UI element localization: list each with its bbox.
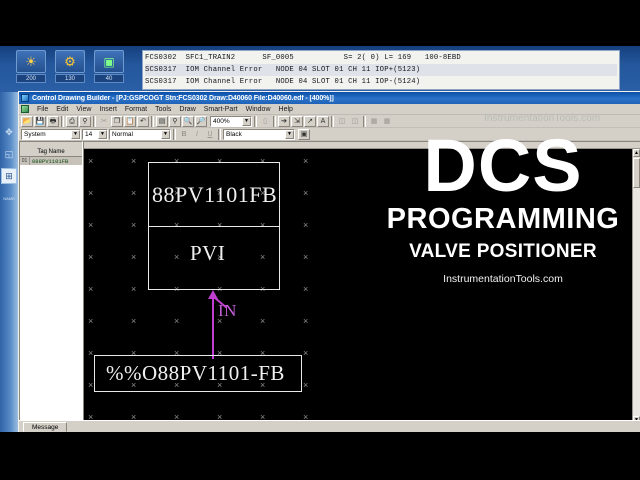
font-name-value: System (24, 131, 46, 138)
name-icon[interactable]: NAME (1, 190, 17, 206)
grid-marker: × (303, 349, 308, 358)
function-block-tag: 88PV1101FB (152, 182, 277, 208)
grid-marker: × (303, 221, 308, 230)
grid-icon[interactable]: ▤ (156, 116, 168, 127)
menu-item-view[interactable]: View (72, 106, 95, 113)
toolbar-separator (273, 116, 276, 127)
square-icon: ▣ (94, 50, 124, 73)
sun-icon: ☀ (16, 50, 46, 73)
alarm-message-row[interactable]: SCS0317 IOM Channel Error NODE 04 SLOT 0… (145, 76, 617, 88)
order-icon[interactable]: ▦ (368, 116, 380, 127)
chevron-down-icon[interactable]: ▼ (71, 130, 80, 139)
scroll-up-icon[interactable]: ▲ (633, 149, 640, 157)
italic-icon[interactable]: I (191, 129, 203, 140)
alarm-button-system[interactable]: ⚙ 130 (53, 50, 87, 83)
text-icon[interactable]: A (317, 116, 329, 127)
print-preview-icon[interactable]: 🖶 (47, 116, 59, 127)
style-value: Normal (112, 131, 133, 138)
bold-icon[interactable]: B (178, 129, 190, 140)
fill-color-icon[interactable]: ▣ (298, 129, 310, 140)
toolbar-separator (363, 116, 366, 127)
select-icon[interactable]: ➔ (278, 116, 290, 127)
input-pin-label: IN (218, 301, 237, 321)
toolbar-separator (218, 129, 221, 140)
grid-marker: × (88, 189, 93, 198)
grid-marker: × (88, 381, 93, 390)
tag-row-value: 088PV1101FB (30, 158, 68, 165)
save-icon[interactable]: 💾 (34, 116, 46, 127)
desktop-launcher-strip: ✥ ◱ ⊞ NAME (0, 92, 18, 432)
grid-marker: × (303, 381, 308, 390)
grid-marker: × (131, 189, 136, 198)
undo-icon[interactable]: ↶ (137, 116, 149, 127)
document-icon (21, 105, 29, 113)
bug-icon: ⚙ (55, 50, 85, 73)
alarm-button-process[interactable]: ☀ 200 (14, 50, 48, 83)
paste-icon[interactable]: 📋 (124, 116, 136, 127)
watermark-text: InstrumentationTools.com (484, 113, 600, 124)
letterbox-bottom (0, 432, 640, 480)
font-name-combobox[interactable]: System ▼ (21, 129, 81, 140)
grid-marker: × (303, 157, 308, 166)
font-size-value: 14 (85, 131, 92, 138)
message-tab-bar: Message (19, 420, 640, 432)
window-titlebar[interactable]: Control Drawing Builder - [PJ:GSPCOGT St… (19, 92, 640, 104)
zoom-combobox[interactable]: 400% ▼ (210, 116, 252, 127)
grid-marker: × (174, 317, 179, 326)
grid-marker: × (88, 349, 93, 358)
toolbar-separator (61, 116, 64, 127)
layer-icon[interactable]: ▦ (381, 116, 393, 127)
menu-item-help[interactable]: Help (275, 106, 297, 113)
alarm-message-row[interactable]: FCS0302 SFC1_TRAIN2 SF_0005 S= 2( 0) L= … (145, 52, 617, 64)
tab-message[interactable]: Message (23, 422, 67, 432)
cut-icon[interactable]: ✂ (98, 116, 110, 127)
open-icon[interactable]: 📂 (21, 116, 33, 127)
terminal-label: %%O88PV1101-FB (106, 361, 285, 386)
grid-marker: × (303, 285, 308, 294)
grid-marker: × (303, 189, 308, 198)
print-icon[interactable]: ⎙ (66, 116, 78, 127)
alarm-count-process: 200 (16, 74, 46, 83)
menu-item-window[interactable]: Window (242, 106, 275, 113)
sun-icon-glyph: ☀ (25, 55, 37, 68)
zoom-in-icon[interactable]: 🔍 (182, 116, 194, 127)
menu-item-draw[interactable]: Draw (175, 106, 199, 113)
grid-marker: × (88, 253, 93, 262)
alarm-message-row[interactable]: SCS0317 IOM Channel Error NODE 04 SLOT 0… (145, 64, 617, 76)
grid-marker: × (303, 317, 308, 326)
style-combobox[interactable]: Normal ▼ (109, 129, 171, 140)
grid-marker: × (260, 317, 265, 326)
menu-item-format[interactable]: Format (121, 106, 151, 113)
chevron-down-icon[interactable]: ▼ (161, 130, 170, 139)
horizontal-ruler (84, 142, 640, 149)
toolbar-separator (331, 116, 334, 127)
screenshot-root: ☀ 200 ⚙ 130 ▣ 40 💬 (0, 0, 640, 480)
his-alarm-toolbar: ☀ 200 ⚙ 130 ▣ 40 💬 (0, 46, 640, 92)
grid-marker: × (131, 317, 136, 326)
connect-icon[interactable]: ⇲ (291, 116, 303, 127)
color-combobox[interactable]: Black ▼ (223, 129, 295, 140)
menu-item-tools[interactable]: Tools (151, 106, 175, 113)
alarm-count-system: 130 (55, 74, 85, 83)
alarm-button-message[interactable]: ▣ 40 (92, 50, 126, 83)
group-icon[interactable]: ◫ (349, 116, 361, 127)
grid-marker: × (303, 253, 308, 262)
alarm-message-list[interactable]: FCS0302 SFC1_TRAIN2 SF_0005 S= 2( 0) L= … (142, 50, 620, 90)
page-icon[interactable]: ▯ (259, 116, 271, 127)
grid-marker: × (88, 285, 93, 294)
window-client-area: Tag Name 01 088PV1101FB ××××××××××××××××… (19, 141, 640, 432)
vertical-scroll-thumb[interactable] (633, 158, 640, 188)
format-toolbar: System ▼ 14 ▼ Normal ▼ B I U Black ▼ ▣ (19, 128, 640, 141)
navigate-icon[interactable]: ✥ (1, 124, 17, 140)
bug-icon-glyph: ⚙ (64, 55, 76, 68)
tag-pane-body[interactable] (20, 165, 82, 432)
align-icon[interactable]: ◫ (336, 116, 348, 127)
menu-item-insert[interactable]: Insert (95, 106, 121, 113)
window-icon[interactable]: ◱ (1, 146, 17, 162)
grid-marker: × (88, 221, 93, 230)
tag-row[interactable]: 01 088PV1101FB (20, 157, 82, 165)
grid-marker: × (131, 221, 136, 230)
tag-pane-header: Tag Name (20, 148, 82, 157)
chevron-down-icon[interactable]: ▼ (242, 117, 251, 126)
app-icon (21, 94, 29, 102)
menu-item-edit[interactable]: Edit (52, 106, 72, 113)
drawing-canvas[interactable]: ××××××××××××××××××××××××××××××××××××××××… (84, 149, 632, 424)
zoom-fit-icon[interactable]: ⚲ (169, 116, 181, 127)
zoom-out-icon[interactable]: 🔎 (195, 116, 207, 127)
tag-name-pane: Tag Name 01 088PV1101FB (19, 141, 83, 432)
copy-icon[interactable]: ❐ (111, 116, 123, 127)
grid-marker: × (88, 317, 93, 326)
grid-marker: × (88, 157, 93, 166)
drawing-canvas-area: ××××××××××××××××××××××××××××××××××××××××… (83, 141, 640, 432)
menu-item-file[interactable]: File (33, 106, 52, 113)
window-title: Control Drawing Builder - [PJ:GSPCOGT St… (32, 95, 334, 102)
toolbar-separator (151, 116, 154, 127)
control-drawing-builder-window: Control Drawing Builder - [PJ:GSPCOGT St… (18, 91, 640, 432)
toolbar-separator (254, 116, 257, 127)
tile-icon[interactable]: ⊞ (1, 168, 17, 184)
toolbar-separator (173, 129, 176, 140)
function-block-divider (148, 226, 280, 227)
font-size-combobox[interactable]: 14 ▼ (82, 129, 108, 140)
link-icon[interactable]: ↗ (304, 116, 316, 127)
chevron-down-icon[interactable]: ▼ (98, 130, 107, 139)
menu-item-smartpart[interactable]: Smart-Part (200, 106, 242, 113)
zoom-value: 400% (213, 118, 230, 125)
tag-row-number: 01 (20, 157, 30, 165)
toolbar-separator (93, 116, 96, 127)
alarm-count-message: 40 (94, 74, 124, 83)
color-value: Black (226, 131, 242, 138)
drawing-content: ××××××××××××××××××××××××××××××××××××××××… (84, 149, 632, 424)
underline-icon[interactable]: U (204, 129, 216, 140)
canvas-vertical-scrollbar[interactable]: ▲ ▼ (632, 149, 640, 424)
grid-marker: × (131, 253, 136, 262)
square-icon-glyph: ▣ (103, 56, 114, 68)
connection-wire[interactable] (212, 299, 214, 359)
function-block-type: PVI (190, 241, 225, 266)
grid-marker: × (131, 285, 136, 294)
find-icon[interactable]: ⚲ (79, 116, 91, 127)
grid-marker: × (131, 157, 136, 166)
letterbox-top (0, 0, 640, 46)
chevron-down-icon[interactable]: ▼ (285, 130, 294, 139)
